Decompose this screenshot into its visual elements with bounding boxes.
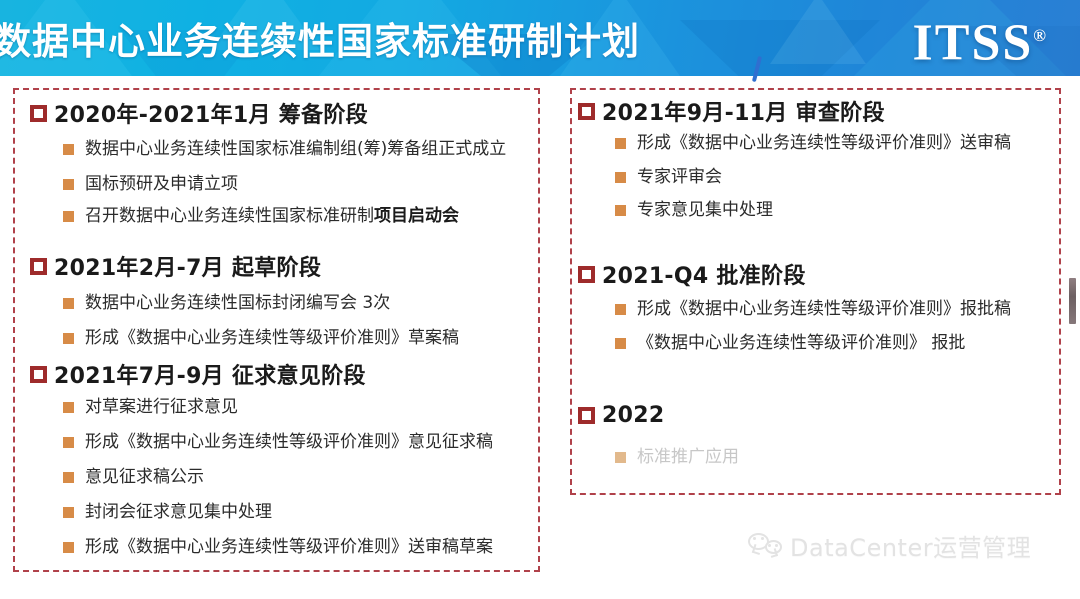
- bullet-square-icon: [63, 437, 74, 448]
- list-item-label: 形成《数据中心业务连续性等级评价准则》草案稿: [85, 327, 459, 349]
- bullet-square-icon: [63, 144, 74, 155]
- square-marker-icon: [30, 258, 47, 275]
- banner-facet-10: [770, 0, 866, 64]
- phase-heading-approval: 2021-Q4 批准阶段: [578, 258, 806, 290]
- bullet-square-icon: [615, 304, 626, 315]
- square-marker-icon: [578, 103, 595, 120]
- square-marker-icon: [578, 266, 595, 283]
- phase-title: 2022: [602, 403, 664, 428]
- list-item: 标准推广应用: [615, 446, 739, 468]
- registered-trademark-icon: ®: [1033, 26, 1046, 45]
- bullet-square-icon: [615, 138, 626, 149]
- list-item: 形成《数据中心业务连续性等级评价准则》草案稿: [63, 327, 459, 349]
- phase-heading-2022: 2022: [578, 403, 664, 428]
- scrollbar-artifact: [1069, 278, 1076, 324]
- list-item-label: 专家意见集中处理: [637, 199, 773, 221]
- bullet-square-icon: [63, 333, 74, 344]
- list-item: 数据中心业务连续性国标封闭编写会 3次: [63, 292, 390, 314]
- list-item: 形成《数据中心业务连续性等级评价准则》报批稿: [615, 298, 1011, 320]
- list-item-emphasis: 项目启动会: [374, 206, 459, 226]
- list-item: 国标预研及申请立项: [63, 173, 238, 195]
- itss-logo: ITSS®: [913, 8, 1046, 71]
- bullet-square-icon: [615, 338, 626, 349]
- list-item: 数据中心业务连续性国家标准编制组(筹)筹备组正式成立: [63, 138, 506, 160]
- list-item: 召开数据中心业务连续性国家标准研制项目启动会: [63, 205, 459, 227]
- list-item: 意见征求稿公示: [63, 466, 204, 488]
- square-marker-icon: [578, 407, 595, 424]
- list-item-label: 国标预研及申请立项: [85, 173, 238, 195]
- bullet-square-icon: [63, 179, 74, 190]
- bullet-square-icon: [63, 472, 74, 483]
- phase-title: 2021年7月-9月 征求意见阶段: [54, 358, 366, 390]
- phase-heading-drafting: 2021年2月-7月 起草阶段: [30, 250, 321, 282]
- list-item: 专家评审会: [615, 166, 722, 188]
- phase-title: 2021-Q4 批准阶段: [602, 258, 806, 290]
- list-item: 专家意见集中处理: [615, 199, 773, 221]
- watermark: DataCenter运营管理: [748, 528, 1031, 563]
- list-item-label: 专家评审会: [637, 166, 722, 188]
- list-item-label: 形成《数据中心业务连续性等级评价准则》意见征求稿: [85, 431, 493, 453]
- bullet-square-icon: [63, 542, 74, 553]
- list-item: 形成《数据中心业务连续性等级评价准则》送审稿: [615, 132, 1011, 154]
- bullet-square-icon: [615, 452, 626, 463]
- phase-heading-prep: 2020年-2021年1月 筹备阶段: [30, 97, 368, 129]
- list-item-label: 数据中心业务连续性国家标准编制组(筹)筹备组正式成立: [85, 138, 506, 160]
- list-item-label: 形成《数据中心业务连续性等级评价准则》送审稿: [637, 132, 1011, 154]
- phase-heading-review: 2021年9月-11月 审查阶段: [578, 95, 885, 127]
- list-item-label: 对草案进行征求意见: [85, 396, 238, 418]
- phase-heading-comments: 2021年7月-9月 征求意见阶段: [30, 358, 366, 390]
- bullet-square-icon: [615, 172, 626, 183]
- list-item-label: 《数据中心业务连续性等级评价准则》 报批: [637, 332, 965, 354]
- watermark-label: DataCenter运营管理: [790, 528, 1031, 563]
- bullet-square-icon: [63, 402, 74, 413]
- list-item-label: 形成《数据中心业务连续性等级评价准则》送审稿草案: [85, 536, 493, 558]
- list-item: 形成《数据中心业务连续性等级评价准则》意见征求稿: [63, 431, 493, 453]
- bullet-square-icon: [63, 507, 74, 518]
- bullet-square-icon: [63, 298, 74, 309]
- list-item-label: 意见征求稿公示: [85, 466, 204, 488]
- list-item: 对草案进行征求意见: [63, 396, 238, 418]
- list-item: 《数据中心业务连续性等级评价准则》 报批: [615, 332, 965, 354]
- list-item: 封闭会征求意见集中处理: [63, 501, 272, 523]
- phase-title: 2021年2月-7月 起草阶段: [54, 250, 321, 282]
- wechat-icon: [748, 532, 782, 560]
- square-marker-icon: [30, 105, 47, 122]
- itss-logo-text: ITSS: [913, 14, 1034, 71]
- page-title: 数据中心业务连续性国家标准研制计划: [0, 11, 640, 65]
- bullet-square-icon: [63, 211, 74, 222]
- list-item: 形成《数据中心业务连续性等级评价准则》送审稿草案: [63, 536, 493, 558]
- list-item-label: 封闭会征求意见集中处理: [85, 501, 272, 523]
- list-item-label: 数据中心业务连续性国标封闭编写会 3次: [85, 292, 390, 314]
- list-item-label: 形成《数据中心业务连续性等级评价准则》报批稿: [637, 298, 1011, 320]
- slide-canvas: 数据中心业务连续性国家标准研制计划 ITSS® 2020年-2021年1月 筹备…: [0, 0, 1080, 599]
- square-marker-icon: [30, 366, 47, 383]
- phase-title: 2020年-2021年1月 筹备阶段: [54, 97, 368, 129]
- header-banner: 数据中心业务连续性国家标准研制计划 ITSS®: [0, 0, 1080, 76]
- list-item-label: 召开数据中心业务连续性国家标准研制项目启动会: [85, 205, 459, 227]
- bullet-square-icon: [615, 205, 626, 216]
- list-item-label: 标准推广应用: [637, 446, 739, 468]
- phase-title: 2021年9月-11月 审查阶段: [602, 95, 885, 127]
